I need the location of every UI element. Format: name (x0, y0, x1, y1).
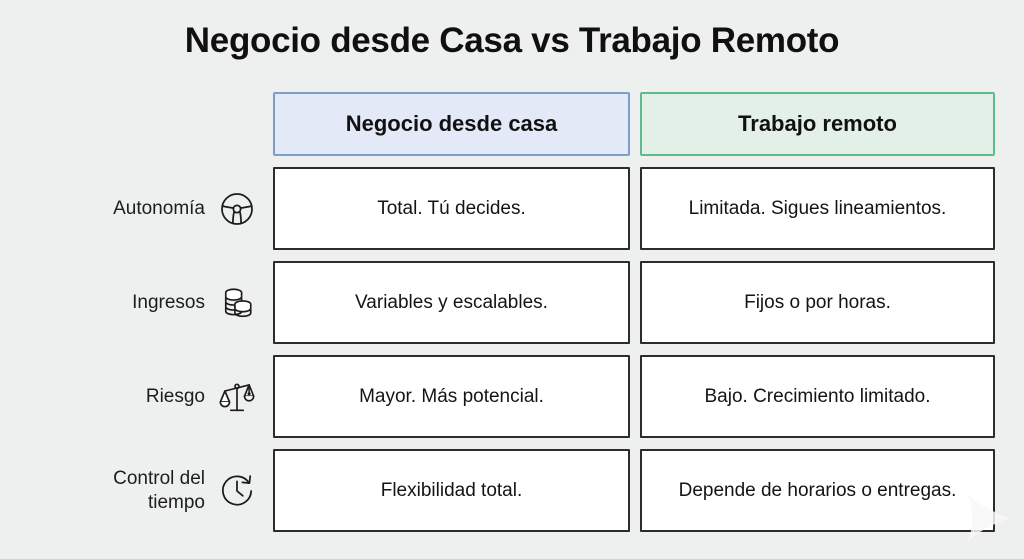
clock-rotate-icon (215, 469, 259, 513)
coins-stack-icon (215, 281, 259, 325)
slide-canvas: Negocio desde Casa vs Trabajo Remoto Neg… (0, 0, 1024, 559)
column-header-remoto: Trabajo remoto (640, 92, 995, 156)
table-cell-control-tiempo-remoto: Depende de horarios o entregas. (640, 449, 995, 532)
row-header-autonomia: Autonomía (60, 167, 263, 250)
row-header-autonomia-label: Autonomía (113, 197, 205, 220)
table-cell-ingresos-remoto: Fijos o por horas. (640, 261, 995, 344)
balance-scale-icon (215, 375, 259, 419)
row-header-riesgo: Riesgo (60, 355, 263, 438)
comparison-table: Negocio desde casa Trabajo remoto Autono… (60, 92, 985, 532)
column-header-negocio-label: Negocio desde casa (346, 111, 558, 137)
table-cell-riesgo-negocio: Mayor. Más potencial. (273, 355, 630, 438)
table-cell-autonomia-remoto: Limitada. Sigues lineamientos. (640, 167, 995, 250)
row-header-ingresos-label: Ingresos (132, 291, 205, 314)
table-cell-autonomia-negocio: Total. Tú decides. (273, 167, 630, 250)
row-header-riesgo-label: Riesgo (146, 385, 205, 408)
table-cell-ingresos-negocio: Variables y escalables. (273, 261, 630, 344)
table-cell-riesgo-remoto: Bajo. Crecimiento limitado. (640, 355, 995, 438)
table-corner-cell (60, 92, 263, 156)
row-header-control-tiempo: Control del tiempo (60, 449, 263, 532)
row-header-ingresos: Ingresos (60, 261, 263, 344)
page-title: Negocio desde Casa vs Trabajo Remoto (0, 22, 1024, 61)
row-header-control-tiempo-label: Control del tiempo (113, 467, 205, 513)
column-header-remoto-label: Trabajo remoto (738, 111, 897, 137)
steering-wheel-icon (215, 187, 259, 231)
table-cell-control-tiempo-negocio: Flexibilidad total. (273, 449, 630, 532)
column-header-negocio: Negocio desde casa (273, 92, 630, 156)
